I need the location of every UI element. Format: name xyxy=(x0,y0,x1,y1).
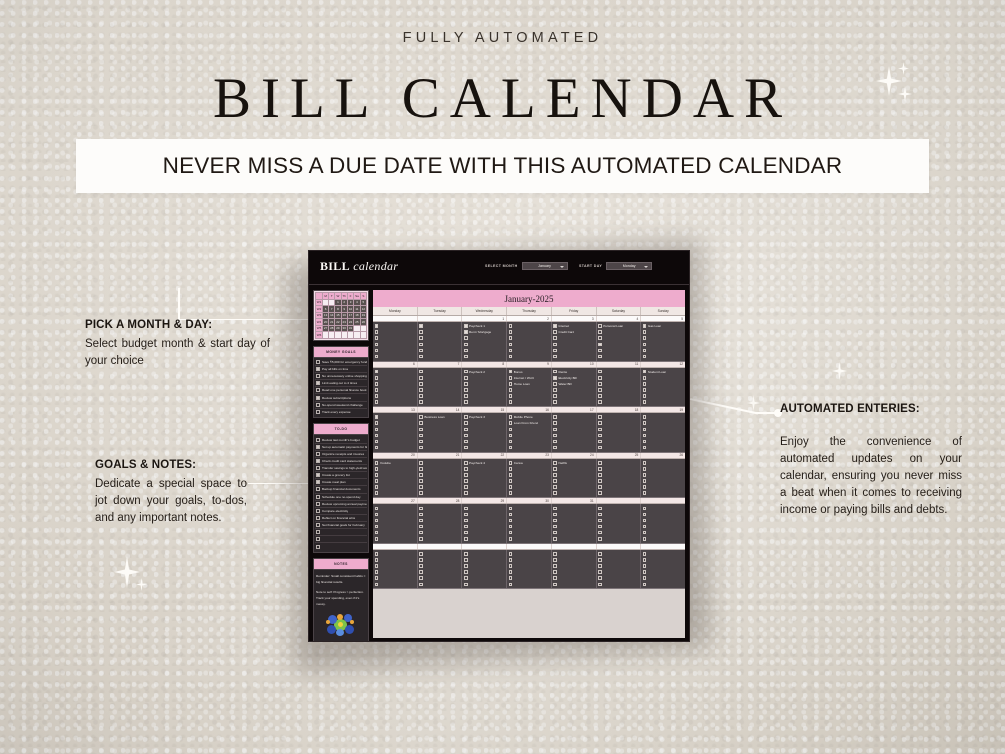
money-goal-item[interactable]: Read one personal finance book xyxy=(315,387,367,394)
entry-checkbox-icon[interactable] xyxy=(598,467,602,471)
entry-checkbox-icon[interactable] xyxy=(598,415,602,419)
day-number-cell[interactable]: 22 xyxy=(462,453,507,458)
day-number-cell[interactable] xyxy=(418,544,463,549)
entry-checkbox-icon[interactable] xyxy=(553,446,557,450)
entry-checkbox-icon[interactable] xyxy=(419,485,423,489)
entry-checkbox-icon[interactable] xyxy=(419,376,423,380)
entry-checkbox-icon[interactable] xyxy=(598,355,602,359)
entry-checkbox-icon[interactable] xyxy=(509,519,513,523)
entry-checkbox-icon[interactable] xyxy=(553,434,557,438)
entry-checkbox-icon[interactable] xyxy=(598,446,602,450)
entry-checkbox-icon[interactable] xyxy=(375,415,379,419)
day-cell[interactable] xyxy=(373,413,418,452)
entry-checkbox-icon[interactable] xyxy=(509,394,513,398)
day-number-cell[interactable]: 9 xyxy=(507,362,552,367)
entry-checkbox-icon[interactable] xyxy=(598,336,602,340)
entry-checkbox-icon[interactable] xyxy=(509,428,513,432)
entry-checkbox-icon[interactable] xyxy=(464,415,468,419)
checkbox-icon[interactable] xyxy=(316,388,320,392)
bill-entry[interactable] xyxy=(507,353,551,359)
entry-checkbox-icon[interactable] xyxy=(419,491,423,495)
entry-checkbox-icon[interactable] xyxy=(419,440,423,444)
bill-entry[interactable] xyxy=(462,353,506,359)
day-cell[interactable] xyxy=(418,459,463,498)
entry-checkbox-icon[interactable] xyxy=(509,525,513,529)
entry-checkbox-icon[interactable] xyxy=(509,330,513,334)
entry-checkbox-icon[interactable] xyxy=(375,336,379,340)
entry-checkbox-icon[interactable] xyxy=(598,558,602,562)
entry-checkbox-icon[interactable] xyxy=(375,349,379,353)
day-cell[interactable]: Paycheck 1Rent / Mortgage xyxy=(462,322,507,361)
entry-checkbox-icon[interactable] xyxy=(419,330,423,334)
entry-checkbox-icon[interactable] xyxy=(553,382,557,386)
bill-entry[interactable] xyxy=(462,399,506,405)
entry-checkbox-icon[interactable] xyxy=(509,446,513,450)
entry-checkbox-icon[interactable] xyxy=(375,330,379,334)
entry-checkbox-icon[interactable] xyxy=(509,421,513,425)
entry-checkbox-icon[interactable] xyxy=(464,513,468,517)
entry-checkbox-icon[interactable] xyxy=(598,473,602,477)
entry-checkbox-icon[interactable] xyxy=(375,583,379,587)
todo-item[interactable]: Check credit card statements xyxy=(315,458,367,465)
bill-entry[interactable] xyxy=(597,536,641,542)
day-cell[interactable] xyxy=(373,368,418,407)
entry-checkbox-icon[interactable] xyxy=(553,473,557,477)
bill-entry[interactable] xyxy=(552,536,596,542)
day-cell[interactable]: InternetCredit Card xyxy=(552,322,597,361)
entry-checkbox-icon[interactable] xyxy=(509,552,513,556)
entry-checkbox-icon[interactable] xyxy=(643,467,647,471)
entry-checkbox-icon[interactable] xyxy=(598,382,602,386)
day-number-cell[interactable]: 12 xyxy=(641,362,685,367)
day-cell[interactable] xyxy=(597,459,642,498)
checkbox-icon[interactable] xyxy=(316,459,320,463)
entry-checkbox-icon[interactable] xyxy=(419,519,423,523)
entry-checkbox-icon[interactable] xyxy=(643,525,647,529)
entry-checkbox-icon[interactable] xyxy=(598,330,602,334)
bill-entry[interactable] xyxy=(641,581,685,587)
entry-checkbox-icon[interactable] xyxy=(419,576,423,580)
entry-checkbox-icon[interactable] xyxy=(553,421,557,425)
day-number-cell[interactable] xyxy=(373,544,418,549)
bill-entry[interactable] xyxy=(641,399,685,405)
select-month-control[interactable]: SELECT MONTH January xyxy=(485,262,568,270)
entry-checkbox-icon[interactable] xyxy=(598,440,602,444)
entry-checkbox-icon[interactable] xyxy=(509,355,513,359)
entry-checkbox-icon[interactable] xyxy=(598,525,602,529)
entry-checkbox-icon[interactable] xyxy=(553,564,557,568)
bill-entry[interactable] xyxy=(507,445,551,451)
bill-entry[interactable] xyxy=(507,399,551,405)
entry-checkbox-icon[interactable] xyxy=(509,485,513,489)
day-number-cell[interactable]: 11 xyxy=(597,362,642,367)
entry-checkbox-icon[interactable] xyxy=(375,382,379,386)
entry-checkbox-icon[interactable] xyxy=(509,558,513,562)
checkbox-icon[interactable] xyxy=(316,545,320,549)
notes-body[interactable]: Reminder: Small consistent habits = big … xyxy=(314,570,368,642)
entry-checkbox-icon[interactable] xyxy=(419,525,423,529)
todo-item[interactable]: Set up automatic payments for bills xyxy=(315,444,367,451)
entry-checkbox-icon[interactable] xyxy=(553,479,557,483)
entry-checkbox-icon[interactable] xyxy=(464,324,468,328)
entry-checkbox-icon[interactable] xyxy=(509,507,513,511)
bill-entry[interactable] xyxy=(507,490,551,496)
todo-item[interactable]: Review upcoming annual payments xyxy=(315,501,367,508)
entry-checkbox-icon[interactable] xyxy=(464,507,468,511)
entry-checkbox-icon[interactable] xyxy=(375,324,379,328)
entry-checkbox-icon[interactable] xyxy=(509,349,513,353)
entry-checkbox-icon[interactable] xyxy=(464,473,468,477)
day-cell[interactable] xyxy=(552,550,597,589)
entry-checkbox-icon[interactable] xyxy=(375,428,379,432)
entry-checkbox-icon[interactable] xyxy=(375,434,379,438)
entry-checkbox-icon[interactable] xyxy=(375,479,379,483)
day-cell[interactable] xyxy=(641,459,685,498)
entry-checkbox-icon[interactable] xyxy=(553,576,557,580)
entry-checkbox-icon[interactable] xyxy=(419,513,423,517)
day-number-cell[interactable]: 24 xyxy=(552,453,597,458)
day-cell[interactable] xyxy=(418,504,463,543)
day-cell[interactable] xyxy=(597,368,642,407)
entry-checkbox-icon[interactable] xyxy=(553,440,557,444)
bill-entry[interactable] xyxy=(507,536,551,542)
entry-checkbox-icon[interactable] xyxy=(509,376,513,380)
entry-checkbox-icon[interactable] xyxy=(464,576,468,580)
entry-checkbox-icon[interactable] xyxy=(553,513,557,517)
bill-entry[interactable] xyxy=(373,445,417,451)
entry-checkbox-icon[interactable] xyxy=(598,507,602,511)
day-number-cell[interactable]: 25 xyxy=(597,453,642,458)
entry-checkbox-icon[interactable] xyxy=(553,428,557,432)
entry-checkbox-icon[interactable] xyxy=(419,388,423,392)
entry-checkbox-icon[interactable] xyxy=(419,343,423,347)
entry-checkbox-icon[interactable] xyxy=(464,376,468,380)
entry-checkbox-icon[interactable] xyxy=(509,583,513,587)
day-number-cell[interactable]: 20 xyxy=(373,453,418,458)
entry-checkbox-icon[interactable] xyxy=(464,349,468,353)
entry-checkbox-icon[interactable] xyxy=(643,570,647,574)
money-goal-item[interactable]: Pay all bills on time xyxy=(315,366,367,373)
entry-checkbox-icon[interactable] xyxy=(553,376,557,380)
entry-checkbox-icon[interactable] xyxy=(419,570,423,574)
day-number-cell[interactable] xyxy=(373,316,418,321)
entry-checkbox-icon[interactable] xyxy=(419,479,423,483)
day-number-cell[interactable]: 5 xyxy=(641,316,685,321)
day-cell[interactable] xyxy=(373,322,418,361)
bill-entry[interactable] xyxy=(373,581,417,587)
day-number-cell[interactable] xyxy=(552,544,597,549)
entry-checkbox-icon[interactable] xyxy=(509,570,513,574)
entry-checkbox-icon[interactable] xyxy=(643,461,647,465)
entry-checkbox-icon[interactable] xyxy=(509,461,513,465)
entry-checkbox-icon[interactable] xyxy=(598,583,602,587)
entry-checkbox-icon[interactable] xyxy=(419,467,423,471)
bill-entry[interactable] xyxy=(552,490,596,496)
entry-checkbox-icon[interactable] xyxy=(553,525,557,529)
money-goal-item[interactable]: Limit eating out to 4 times xyxy=(315,380,367,387)
entry-checkbox-icon[interactable] xyxy=(375,552,379,556)
entry-checkbox-icon[interactable] xyxy=(375,564,379,568)
bill-entry[interactable] xyxy=(552,353,596,359)
checkbox-icon[interactable] xyxy=(316,473,320,477)
entry-checkbox-icon[interactable] xyxy=(643,376,647,380)
entry-checkbox-icon[interactable] xyxy=(643,382,647,386)
day-cell[interactable] xyxy=(552,413,597,452)
day-cell[interactable] xyxy=(373,504,418,543)
entry-checkbox-icon[interactable] xyxy=(375,370,379,374)
entry-checkbox-icon[interactable] xyxy=(375,461,379,465)
entry-checkbox-icon[interactable] xyxy=(375,576,379,580)
entry-checkbox-icon[interactable] xyxy=(464,421,468,425)
day-cell[interactable]: Paycheck 4 xyxy=(462,459,507,498)
day-number-cell[interactable]: 7 xyxy=(418,362,463,367)
entry-checkbox-icon[interactable] xyxy=(464,440,468,444)
entry-checkbox-icon[interactable] xyxy=(464,583,468,587)
checkbox-icon[interactable] xyxy=(316,360,320,364)
entry-checkbox-icon[interactable] xyxy=(375,473,379,477)
start-day-control[interactable]: START DAY Monday xyxy=(579,262,652,270)
entry-checkbox-icon[interactable] xyxy=(643,583,647,587)
todo-item[interactable]: Reflect on financial wins xyxy=(315,515,367,522)
entry-checkbox-icon[interactable] xyxy=(553,519,557,523)
bill-entry[interactable] xyxy=(641,490,685,496)
money-goal-item[interactable]: No-spend weekend challenge xyxy=(315,402,367,409)
entry-checkbox-icon[interactable] xyxy=(509,324,513,328)
checkbox-icon[interactable] xyxy=(316,452,320,456)
bill-entry[interactable] xyxy=(418,353,462,359)
entry-checkbox-icon[interactable] xyxy=(643,576,647,580)
entry-checkbox-icon[interactable] xyxy=(464,446,468,450)
entry-checkbox-icon[interactable] xyxy=(643,355,647,359)
entry-checkbox-icon[interactable] xyxy=(598,324,602,328)
bill-entry[interactable] xyxy=(373,536,417,542)
entry-checkbox-icon[interactable] xyxy=(464,461,468,465)
bill-entry[interactable] xyxy=(418,399,462,405)
day-number-cell[interactable]: 6 xyxy=(373,362,418,367)
entry-checkbox-icon[interactable] xyxy=(419,324,423,328)
entry-checkbox-icon[interactable] xyxy=(464,330,468,334)
day-cell[interactable]: Student Loan xyxy=(641,368,685,407)
entry-checkbox-icon[interactable] xyxy=(419,461,423,465)
day-cell[interactable] xyxy=(507,550,552,589)
entry-checkbox-icon[interactable] xyxy=(643,415,647,419)
entry-checkbox-icon[interactable] xyxy=(464,491,468,495)
bill-entry[interactable] xyxy=(418,536,462,542)
bill-entry[interactable] xyxy=(507,581,551,587)
todo-item[interactable]: Compare electricity xyxy=(315,508,367,515)
entry-checkbox-icon[interactable] xyxy=(375,570,379,574)
entry-checkbox-icon[interactable] xyxy=(419,507,423,511)
day-cell[interactable] xyxy=(418,322,463,361)
entry-checkbox-icon[interactable] xyxy=(598,537,602,541)
money-goal-item[interactable]: Save ₹5,000 for emergency fund xyxy=(315,359,367,366)
entry-checkbox-icon[interactable] xyxy=(598,370,602,374)
entry-checkbox-icon[interactable] xyxy=(643,507,647,511)
entry-checkbox-icon[interactable] xyxy=(598,485,602,489)
bill-entry[interactable] xyxy=(462,490,506,496)
entry-checkbox-icon[interactable] xyxy=(464,382,468,386)
entry-checkbox-icon[interactable] xyxy=(598,531,602,535)
entry-checkbox-icon[interactable] xyxy=(464,343,468,347)
todo-item[interactable]: Create a grocery list xyxy=(315,472,367,479)
entry-checkbox-icon[interactable] xyxy=(598,428,602,432)
day-cell[interactable] xyxy=(641,504,685,543)
bill-entry[interactable] xyxy=(462,445,506,451)
bill-entry[interactable] xyxy=(552,581,596,587)
entry-checkbox-icon[interactable] xyxy=(643,330,647,334)
entry-checkbox-icon[interactable] xyxy=(598,421,602,425)
day-cell[interactable] xyxy=(552,504,597,543)
bill-entry[interactable] xyxy=(597,399,641,405)
entry-checkbox-icon[interactable] xyxy=(509,564,513,568)
day-cell[interactable]: RentalElectricity BillWater Bill xyxy=(552,368,597,407)
day-cell[interactable]: Mobile PhoneLoan From Friend xyxy=(507,413,552,452)
day-number-cell[interactable]: 17 xyxy=(552,407,597,412)
todo-item[interactable]: Set financial goals for February xyxy=(315,522,367,529)
day-number-cell[interactable] xyxy=(507,544,552,549)
entry-checkbox-icon[interactable] xyxy=(375,446,379,450)
entry-checkbox-icon[interactable] xyxy=(375,440,379,444)
entry-checkbox-icon[interactable] xyxy=(598,400,602,404)
entry-checkbox-icon[interactable] xyxy=(553,583,557,587)
checkbox-icon[interactable] xyxy=(316,495,320,499)
entry-checkbox-icon[interactable] xyxy=(643,400,647,404)
entry-checkbox-icon[interactable] xyxy=(419,400,423,404)
day-cell[interactable]: Netflix xyxy=(552,459,597,498)
day-number-cell[interactable] xyxy=(641,498,685,503)
bill-entry[interactable] xyxy=(462,536,506,542)
checkbox-icon[interactable] xyxy=(316,410,320,414)
entry-checkbox-icon[interactable] xyxy=(419,434,423,438)
entry-checkbox-icon[interactable] xyxy=(509,434,513,438)
entry-checkbox-icon[interactable] xyxy=(464,370,468,374)
bill-entry[interactable] xyxy=(462,581,506,587)
day-number-cell[interactable]: 31 xyxy=(552,498,597,503)
day-number-cell[interactable]: 13 xyxy=(373,407,418,412)
money-goal-item[interactable]: Review subscriptions xyxy=(315,394,367,401)
entry-checkbox-icon[interactable] xyxy=(375,343,379,347)
entry-checkbox-icon[interactable] xyxy=(553,330,557,334)
bill-entry[interactable] xyxy=(597,581,641,587)
entry-checkbox-icon[interactable] xyxy=(598,491,602,495)
entry-checkbox-icon[interactable] xyxy=(509,491,513,495)
todo-item[interactable]: Review last month's budget xyxy=(315,437,367,444)
entry-checkbox-icon[interactable] xyxy=(553,355,557,359)
entry-checkbox-icon[interactable] xyxy=(553,552,557,556)
entry-checkbox-icon[interactable] xyxy=(464,400,468,404)
checkbox-icon[interactable] xyxy=(316,523,320,527)
bill-entry[interactable] xyxy=(597,445,641,451)
day-cell[interactable] xyxy=(373,550,418,589)
entry-checkbox-icon[interactable] xyxy=(643,479,647,483)
bill-entry[interactable] xyxy=(641,445,685,451)
entry-checkbox-icon[interactable] xyxy=(553,537,557,541)
entry-checkbox-icon[interactable] xyxy=(419,428,423,432)
todo-item[interactable]: Organize receipts and invoices xyxy=(315,451,367,458)
entry-checkbox-icon[interactable] xyxy=(375,485,379,489)
entry-checkbox-icon[interactable] xyxy=(643,388,647,392)
entry-checkbox-icon[interactable] xyxy=(464,558,468,562)
mini-calendar-panel[interactable]: MTWThFSaS W112345W26789101112W3131415161… xyxy=(313,290,369,341)
entry-checkbox-icon[interactable] xyxy=(598,479,602,483)
entry-checkbox-icon[interactable] xyxy=(553,461,557,465)
todo-item[interactable]: Backup financial documents xyxy=(315,486,367,493)
day-number-cell[interactable]: 28 xyxy=(418,498,463,503)
entry-checkbox-icon[interactable] xyxy=(375,421,379,425)
entry-checkbox-icon[interactable] xyxy=(598,388,602,392)
entry-checkbox-icon[interactable] xyxy=(598,461,602,465)
entry-checkbox-icon[interactable] xyxy=(509,479,513,483)
day-number-cell[interactable]: 16 xyxy=(507,407,552,412)
bill-entry[interactable] xyxy=(597,490,641,496)
entry-checkbox-icon[interactable] xyxy=(375,537,379,541)
entry-checkbox-icon[interactable] xyxy=(643,343,647,347)
entry-checkbox-icon[interactable] xyxy=(419,370,423,374)
entry-checkbox-icon[interactable] xyxy=(375,513,379,517)
entry-checkbox-icon[interactable] xyxy=(643,336,647,340)
entry-checkbox-icon[interactable] xyxy=(464,564,468,568)
day-number-cell[interactable]: 14 xyxy=(418,407,463,412)
checkbox-icon[interactable] xyxy=(316,502,320,506)
entry-checkbox-icon[interactable] xyxy=(553,491,557,495)
day-cell[interactable]: Paycheck 3 xyxy=(462,413,507,452)
day-number-cell[interactable]: 1 xyxy=(462,316,507,321)
day-cell[interactable] xyxy=(507,322,552,361)
day-number-cell[interactable]: 19 xyxy=(641,407,685,412)
entry-checkbox-icon[interactable] xyxy=(464,388,468,392)
entry-checkbox-icon[interactable] xyxy=(509,343,513,347)
money-goal-item[interactable]: No unnecessary online shopping xyxy=(315,373,367,380)
todo-item[interactable] xyxy=(315,529,367,536)
entry-checkbox-icon[interactable] xyxy=(464,467,468,471)
mini-cal-day[interactable] xyxy=(360,332,366,339)
entry-checkbox-icon[interactable] xyxy=(464,394,468,398)
entry-checkbox-icon[interactable] xyxy=(643,519,647,523)
day-cell[interactable] xyxy=(462,550,507,589)
day-number-cell[interactable] xyxy=(641,544,685,549)
day-cell[interactable] xyxy=(418,368,463,407)
entry-checkbox-icon[interactable] xyxy=(375,525,379,529)
day-cell[interactable]: Canva xyxy=(507,459,552,498)
day-cell[interactable] xyxy=(462,504,507,543)
bill-entry[interactable] xyxy=(373,490,417,496)
select-month-dropdown[interactable]: January xyxy=(522,262,568,270)
entry-checkbox-icon[interactable] xyxy=(375,388,379,392)
entry-checkbox-icon[interactable] xyxy=(553,388,557,392)
bill-entry[interactable] xyxy=(418,581,462,587)
entry-checkbox-icon[interactable] xyxy=(598,394,602,398)
entry-checkbox-icon[interactable] xyxy=(464,531,468,535)
entry-checkbox-icon[interactable] xyxy=(419,473,423,477)
day-number-cell[interactable]: 30 xyxy=(507,498,552,503)
entry-checkbox-icon[interactable] xyxy=(509,576,513,580)
entry-checkbox-icon[interactable] xyxy=(553,531,557,535)
checkbox-icon[interactable] xyxy=(316,466,320,470)
entry-checkbox-icon[interactable] xyxy=(509,388,513,392)
day-number-cell[interactable]: 4 xyxy=(597,316,642,321)
entry-checkbox-icon[interactable] xyxy=(464,355,468,359)
entry-checkbox-icon[interactable] xyxy=(643,440,647,444)
entry-checkbox-icon[interactable] xyxy=(553,343,557,347)
entry-checkbox-icon[interactable] xyxy=(509,415,513,419)
day-number-cell[interactable] xyxy=(597,544,642,549)
day-number-cell[interactable] xyxy=(418,316,463,321)
entry-checkbox-icon[interactable] xyxy=(643,421,647,425)
entry-checkbox-icon[interactable] xyxy=(464,479,468,483)
day-number-cell[interactable] xyxy=(462,544,507,549)
bill-entry[interactable] xyxy=(641,536,685,542)
entry-checkbox-icon[interactable] xyxy=(643,537,647,541)
